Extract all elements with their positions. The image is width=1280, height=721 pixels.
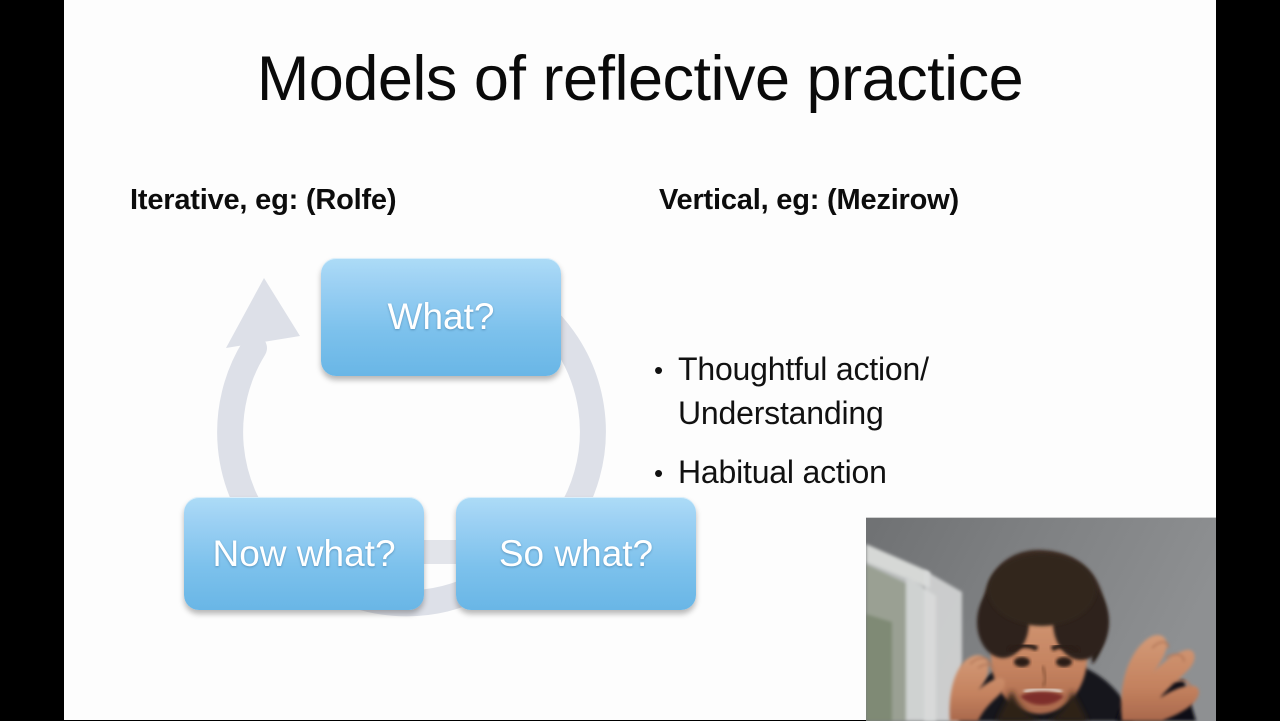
cycle-node-so-what[interactable]: So what? bbox=[456, 497, 696, 610]
cycle-node-now-what-label: Now what? bbox=[212, 533, 395, 575]
cycle-node-what[interactable]: What? bbox=[321, 258, 561, 376]
right-column-heading: Vertical, eg: (Mezirow) bbox=[659, 184, 959, 217]
letterbox-bar-left bbox=[0, 0, 64, 720]
webcam-video-frame bbox=[866, 518, 1216, 721]
list-item: • Habitual action bbox=[654, 451, 1074, 495]
left-column-heading: Iterative, eg: (Rolfe) bbox=[130, 184, 396, 217]
list-item: • Thoughtful action/ Understanding bbox=[654, 348, 1074, 435]
bullet-marker-icon: • bbox=[654, 451, 678, 495]
bullet-marker-icon: • bbox=[654, 348, 678, 392]
cycle-node-so-what-label: So what? bbox=[499, 533, 653, 575]
vertical-model-bullet-list: • Thoughtful action/ Understanding • Hab… bbox=[654, 348, 1074, 511]
cycle-node-now-what[interactable]: Now what? bbox=[184, 497, 424, 610]
letterbox-bar-right bbox=[1216, 0, 1280, 720]
cycle-node-what-label: What? bbox=[388, 296, 495, 338]
video-frame: Models of reflective practice Iterative,… bbox=[0, 0, 1280, 720]
list-item-label: Habitual action bbox=[678, 451, 887, 495]
reflective-cycle-diagram: What? Now what? So what? bbox=[104, 240, 694, 630]
presenter-webcam-overlay[interactable] bbox=[866, 517, 1216, 721]
list-item-label: Thoughtful action/ Understanding bbox=[678, 348, 1008, 435]
page-title: Models of reflective practice bbox=[64, 46, 1216, 112]
